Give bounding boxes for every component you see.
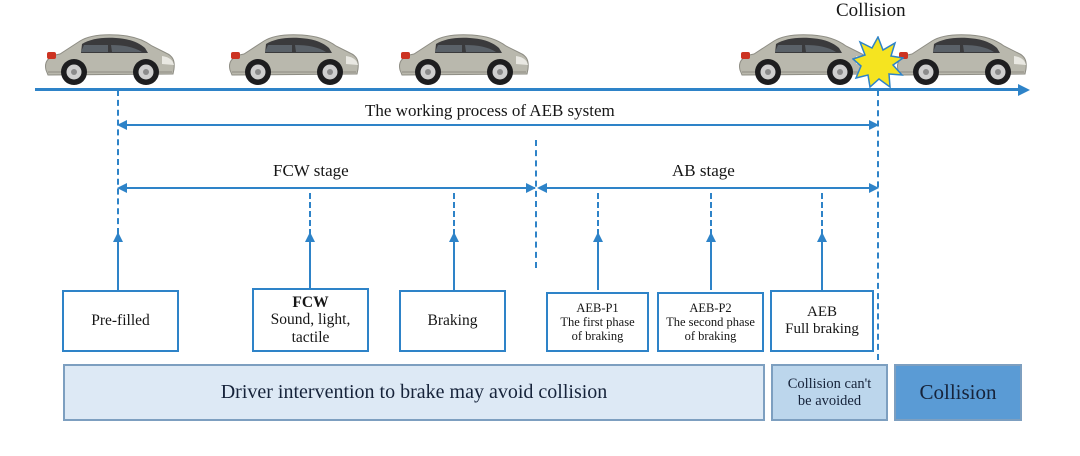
stage-label-fcw: FCW stage [273, 161, 349, 181]
car-icon [222, 26, 362, 88]
working-process-arrow-left-icon [117, 120, 127, 130]
car-icon [392, 26, 532, 88]
outcome-driver-intervention[interactable]: Driver intervention to brake may avoid c… [63, 364, 765, 421]
car-icon [890, 26, 1030, 88]
ab-stage-arrow-right-icon [869, 183, 879, 193]
event-box-line: tactile [292, 329, 330, 346]
connector-arrow-fcw-icon [305, 232, 315, 242]
event-box-line: Sound, light, [271, 311, 351, 328]
ab-stage-arrow-left-icon [537, 183, 547, 193]
connector-arrow-aebfull-icon [817, 232, 827, 242]
event-box-aeb-full[interactable]: AEB Full braking [770, 290, 874, 352]
ab-stage-span-line [540, 187, 877, 189]
event-box-line: Pre-filled [91, 312, 150, 329]
event-box-braking[interactable]: Braking [399, 290, 506, 352]
connector-arrow-aebp2-icon [706, 232, 716, 242]
connector-line-aebp1 [597, 241, 599, 290]
event-box-pre-filled[interactable]: Pre-filled [62, 290, 179, 352]
working-process-span-line [119, 124, 877, 126]
car-icon [38, 26, 178, 88]
stage-divider-dashed-line [535, 140, 537, 268]
tick-dashed-line-prefilled [117, 90, 119, 234]
stage-label-ab: AB stage [672, 161, 735, 181]
event-box-line: Full braking [785, 321, 859, 338]
timeline-axis [35, 88, 1020, 91]
tick-dashed-line-fcw [309, 193, 311, 235]
working-process-arrow-right-icon [869, 120, 879, 130]
connector-arrow-prefilled-icon [113, 232, 123, 242]
event-box-aeb-p2[interactable]: AEB-P2 The second phase of braking [657, 292, 764, 352]
tick-dashed-line-aebp1 [597, 193, 599, 235]
outcome-collision[interactable]: Collision [894, 364, 1022, 421]
event-box-line: Braking [428, 312, 478, 329]
outcome-label: Driver intervention to brake may avoid c… [221, 381, 608, 404]
collision-dashed-line [877, 90, 879, 360]
event-box-line: The second phase [666, 315, 755, 329]
outcome-label: be avoided [798, 393, 861, 410]
event-box-line: AEB [807, 304, 837, 321]
tick-dashed-line-aebp2 [710, 193, 712, 235]
event-box-line: of braking [572, 329, 624, 343]
outcome-label: Collision can't [788, 376, 872, 393]
event-box-line: AEB-P2 [689, 301, 731, 315]
connector-line-braking [453, 241, 455, 290]
collision-burst-icon [852, 36, 904, 88]
event-box-line: The first phase [560, 315, 634, 329]
fcw-stage-arrow-left-icon [117, 183, 127, 193]
outcome-label: Collision [919, 380, 996, 404]
connector-arrow-braking-icon [449, 232, 459, 242]
fcw-stage-arrow-right-icon [526, 183, 536, 193]
event-box-line: AEB-P1 [576, 301, 618, 315]
timeline-arrow-icon [1018, 84, 1030, 96]
tick-dashed-line-braking [453, 193, 455, 235]
tick-dashed-line-aebfull [821, 193, 823, 235]
fcw-stage-span-line [119, 187, 535, 189]
connector-line-prefilled [117, 241, 119, 290]
connector-line-aebp2 [710, 241, 712, 290]
connector-arrow-aebp1-icon [593, 232, 603, 242]
event-box-line: FCW [292, 294, 328, 311]
connector-line-aebfull [821, 241, 823, 290]
collision-caption: Collision [836, 0, 906, 22]
connector-line-fcw [309, 241, 311, 290]
car-icon [732, 26, 872, 88]
event-box-aeb-p1[interactable]: AEB-P1 The first phase of braking [546, 292, 649, 352]
event-box-fcw-warning[interactable]: FCW Sound, light, tactile [252, 288, 369, 352]
outcome-collision-unavoidable[interactable]: Collision can't be avoided [771, 364, 888, 421]
event-box-line: of braking [685, 329, 737, 343]
aeb-process-diagram: Collision The working process of AEB sys… [0, 0, 1080, 456]
page-title: The working process of AEB system [365, 101, 615, 121]
